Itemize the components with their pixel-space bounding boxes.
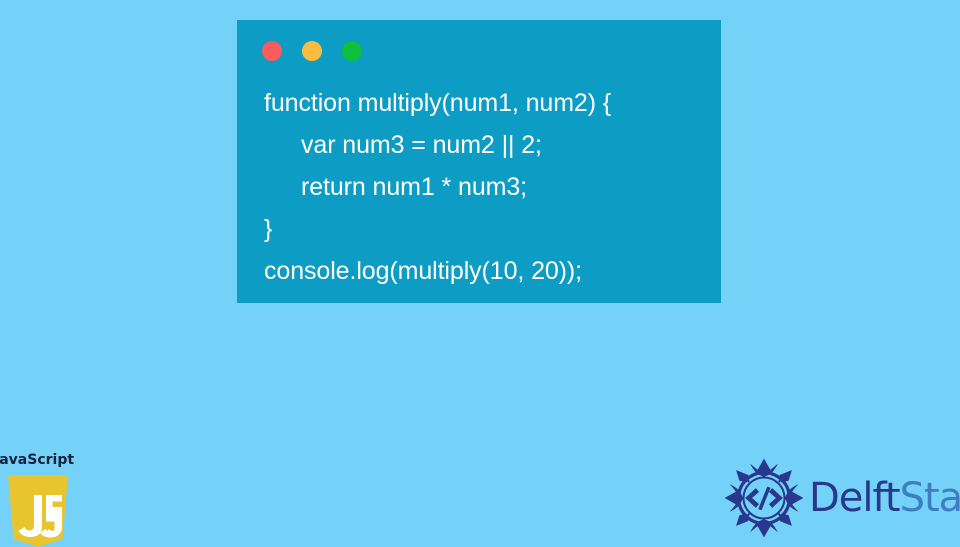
code-line: var num3 = num2 || 2;: [264, 124, 711, 166]
minimize-dot-icon[interactable]: [302, 41, 322, 61]
code-block: function multiply(num1, num2) { var num3…: [237, 82, 721, 292]
delftstack-wordmark-stack: Stack: [900, 475, 960, 521]
code-line: }: [264, 208, 711, 250]
window-titlebar: [237, 20, 721, 82]
javascript-shield-icon: [4, 475, 72, 547]
code-line: function multiply(num1, num2) {: [264, 82, 711, 124]
code-line: return num1 * num3;: [264, 166, 711, 208]
code-brackets-mandala-icon: [723, 457, 805, 539]
delftstack-wordmark: DelftStack: [809, 478, 960, 518]
javascript-badge: JavaScript: [0, 452, 86, 540]
code-snippet-window: function multiply(num1, num2) { var num3…: [237, 20, 721, 303]
delftstack-logo: DelftStack: [723, 456, 960, 540]
maximize-dot-icon[interactable]: [342, 41, 362, 61]
delftstack-wordmark-delft: Delft: [809, 475, 900, 521]
javascript-label: JavaScript: [0, 452, 74, 468]
code-line: console.log(multiply(10, 20));: [264, 250, 711, 292]
close-dot-icon[interactable]: [262, 41, 282, 61]
